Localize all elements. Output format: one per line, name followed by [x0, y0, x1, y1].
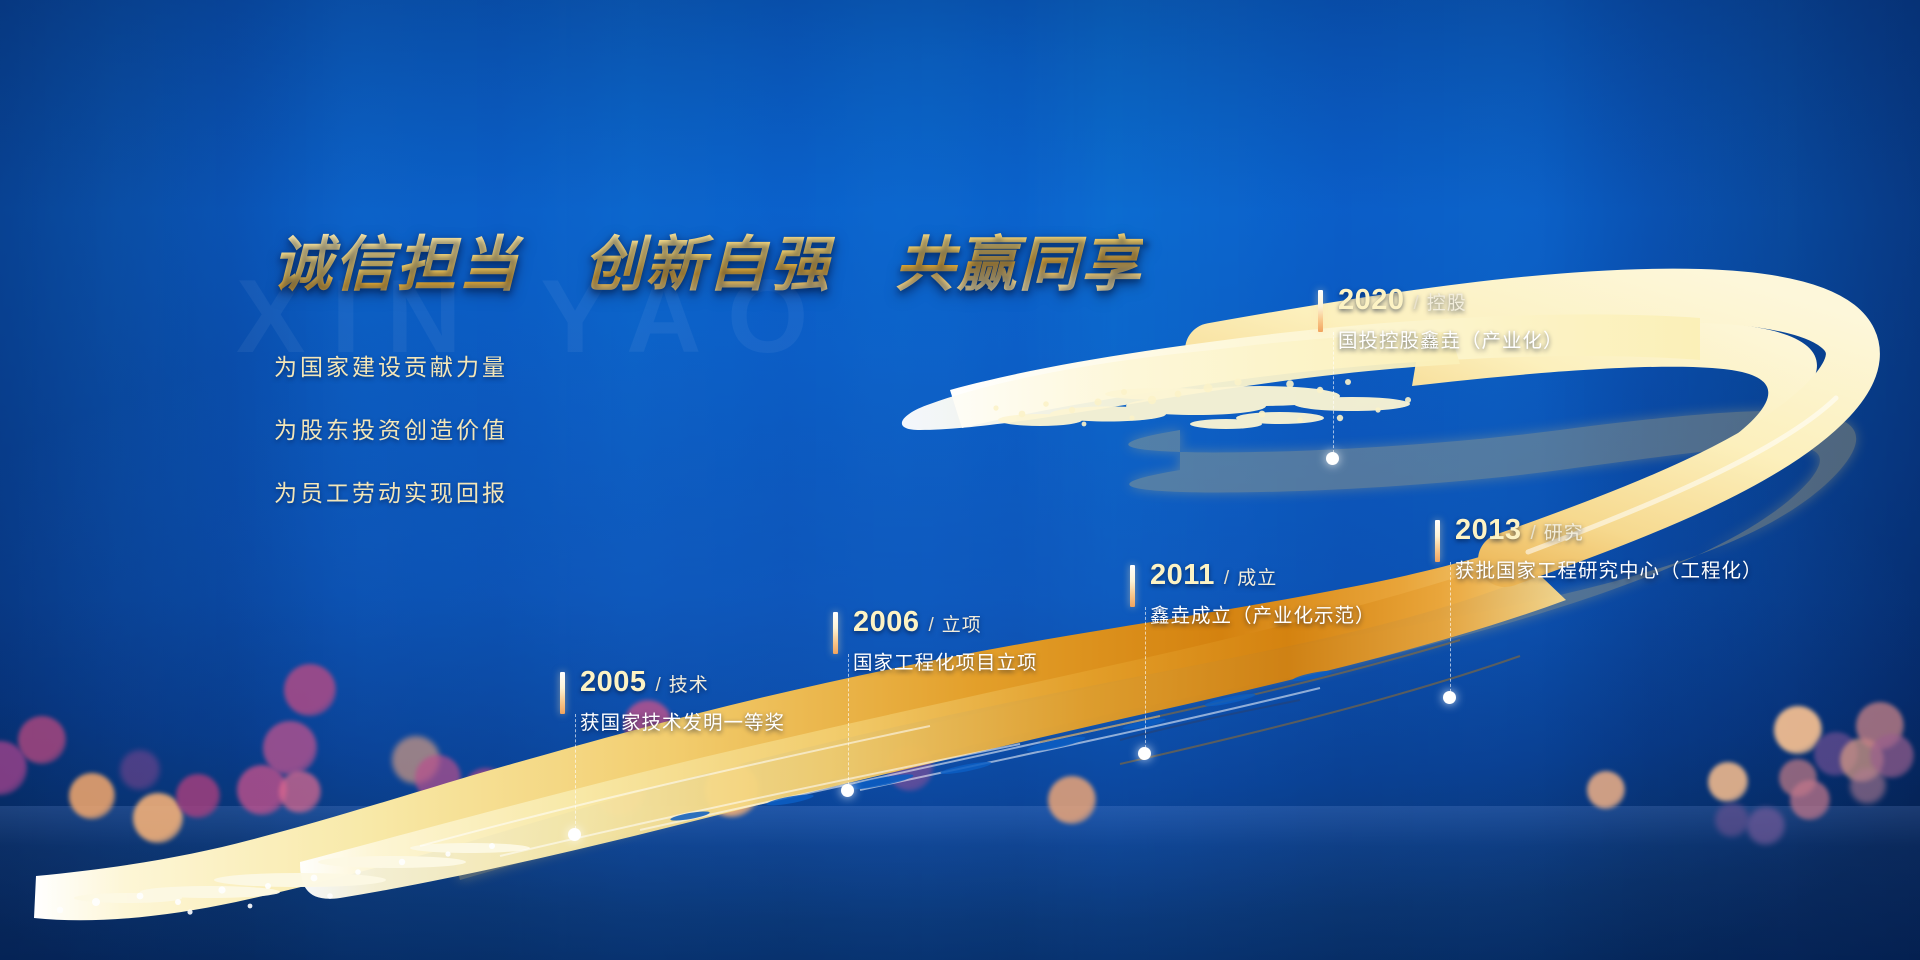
timeline-year: 2011/成立	[1150, 559, 1277, 592]
timeline-leader-line	[1145, 607, 1146, 753]
timeline-separator: /	[1414, 293, 1420, 314]
timeline-node-dot[interactable]	[841, 784, 854, 797]
timeline-tag: /成立	[1224, 568, 1277, 589]
timeline-year: 2020/控股	[1338, 284, 1467, 317]
timeline-tag: /立项	[929, 615, 982, 636]
timeline-node-dot[interactable]	[568, 828, 581, 841]
timeline-node-dot[interactable]	[1326, 452, 1339, 465]
timeline-description: 鑫垚成立（产业化示范）	[1150, 599, 1376, 628]
timeline-milestones: 2005/技术获国家技术发明一等奖2006/立项国家工程化项目立项2011/成立…	[0, 0, 1920, 960]
timeline-description: 获批国家工程研究中心（工程化）	[1455, 554, 1763, 583]
timeline-marker-bar	[560, 672, 565, 714]
timeline-description: 国投控股鑫垚（产业化）	[1338, 324, 1564, 353]
timeline-separator: /	[1224, 568, 1230, 589]
timeline-description: 获国家技术发明一等奖	[580, 706, 785, 735]
timeline-separator: /	[656, 675, 662, 696]
timeline-leader-line	[575, 714, 576, 834]
timeline-node-dot[interactable]	[1138, 747, 1151, 760]
timeline-marker-bar	[1318, 290, 1323, 332]
timeline-leader-line	[848, 654, 849, 790]
timeline-tag: /研究	[1531, 523, 1584, 544]
timeline-marker-bar	[1435, 520, 1440, 562]
timeline-description: 国家工程化项目立项	[853, 646, 1038, 675]
banner-canvas: XIN YAO 诚信担当 创新自强 共赢同享 为国家建设贡献力量 为股东投资创造…	[0, 0, 1920, 960]
timeline-separator: /	[1531, 523, 1537, 544]
timeline-year: 2013/研究	[1455, 514, 1584, 547]
timeline-marker-bar	[833, 612, 838, 654]
timeline-node-dot[interactable]	[1443, 691, 1456, 704]
timeline-separator: /	[929, 615, 935, 636]
timeline-marker-bar	[1130, 565, 1135, 607]
timeline-leader-line	[1450, 562, 1451, 697]
timeline-tag: /控股	[1414, 293, 1467, 314]
timeline-tag: /技术	[656, 675, 709, 696]
timeline-leader-line	[1333, 332, 1334, 458]
timeline-year: 2005/技术	[580, 666, 709, 699]
timeline-year: 2006/立项	[853, 606, 982, 639]
